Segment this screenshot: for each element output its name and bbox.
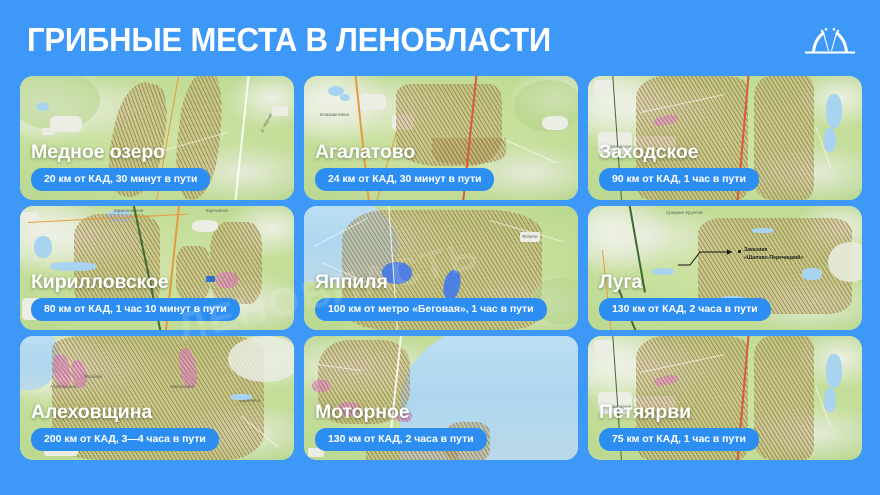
map-label: Картынное bbox=[206, 208, 229, 213]
travel-badge: 24 км от КАД, 30 минут в пути bbox=[315, 168, 494, 192]
page-title: ГРИБНЫЕ МЕСТА В ЛЕНОБЛАСТИ bbox=[27, 20, 551, 60]
place-name: Заходское bbox=[599, 141, 862, 164]
place-card-alehovshchina[interactable]: Алеховщина Явосьма Мирошкино Тервеничи А… bbox=[20, 336, 294, 460]
place-card-luga[interactable]: Средние Крупели Заказник bbox=[588, 206, 862, 330]
card-overlay: Луга 130 км от КАД, 2 часа в пути bbox=[588, 271, 862, 331]
travel-badge: 200 км от КАД, 3—4 часа в пути bbox=[31, 428, 219, 452]
place-name: Кирилловское bbox=[31, 271, 294, 294]
travel-badge: 20 км от КАД, 30 минут в пути bbox=[31, 168, 210, 192]
places-grid: р. Чёрная Медное озеро 20 км от КАД, 30 … bbox=[20, 76, 862, 460]
place-card-agalatovo[interactable]: Елизаветинка Агалатово 24 км от КАД, 30 … bbox=[304, 76, 578, 200]
card-overlay: Яппиля 100 км от метро «Беговая», 1 час … bbox=[304, 271, 578, 331]
card-overlay: Алеховщина 200 км от КАД, 3—4 часа в пут… bbox=[20, 401, 294, 461]
travel-badge: 90 км от КАД, 1 час в пути bbox=[599, 168, 759, 192]
card-overlay: Моторное 130 км от КАД, 2 часа в пути bbox=[304, 401, 578, 461]
place-card-mednoe-ozero[interactable]: р. Чёрная Медное озеро 20 км от КАД, 30 … bbox=[20, 76, 294, 200]
place-card-kirillovskoe[interactable]: Кирилловское Картынное Кирилловское 80 к… bbox=[20, 206, 294, 330]
map-label: Кирилловское bbox=[114, 208, 143, 213]
card-overlay: Кирилловское 80 км от КАД, 1 час 10 мину… bbox=[20, 271, 294, 331]
annotation-dot bbox=[738, 250, 741, 253]
map-label: Явосьма bbox=[84, 374, 102, 379]
place-name: Медное озеро bbox=[31, 141, 294, 164]
travel-badge: 130 км от КАД, 2 часа в пути bbox=[599, 298, 771, 322]
place-name: Алеховщина bbox=[31, 401, 294, 424]
place-name: Петяярви bbox=[599, 401, 862, 424]
place-card-petyayarvi[interactable]: Заходское Петяярви 75 км от КАД, 1 час в… bbox=[588, 336, 862, 460]
place-card-zahodskoe[interactable]: Заходское Заходское 90 км от КАД, 1 час … bbox=[588, 76, 862, 200]
travel-badge: 100 км от метро «Беговая», 1 час в пути bbox=[315, 298, 547, 322]
travel-badge: 80 км от КАД, 1 час 10 минут в пути bbox=[31, 298, 240, 322]
place-name: Агалатово bbox=[315, 141, 578, 164]
map-label: Елизаветинка bbox=[320, 112, 349, 117]
card-overlay: Заходское 90 км от КАД, 1 час в пути bbox=[588, 141, 862, 201]
place-name: Луга bbox=[599, 271, 862, 294]
header: ГРИБНЫЕ МЕСТА В ЛЕНОБЛАСТИ bbox=[0, 0, 880, 75]
map-label: Средние Крупели bbox=[666, 210, 703, 215]
map-label: Яппиля bbox=[522, 234, 538, 239]
card-overlay: Медное озеро 20 км от КАД, 30 минут в пу… bbox=[20, 141, 294, 201]
card-overlay: Петяярви 75 км от КАД, 1 час в пути bbox=[588, 401, 862, 461]
place-name: Яппиля bbox=[315, 271, 578, 294]
map-label: Мирошкино bbox=[170, 384, 194, 389]
annotation-line-2: «Шалово-Перечицкий» bbox=[744, 255, 803, 262]
place-card-yappilya[interactable]: Яппиля Яппиля 100 км от метро «Беговая»,… bbox=[304, 206, 578, 330]
annotation-line-1: Заказник bbox=[744, 247, 767, 254]
travel-badge: 75 км от КАД, 1 час в пути bbox=[599, 428, 759, 452]
drawbridge-logo-icon bbox=[802, 22, 858, 56]
card-overlay: Агалатово 24 км от КАД, 30 минут в пути bbox=[304, 141, 578, 201]
travel-badge: 130 км от КАД, 2 часа в пути bbox=[315, 428, 487, 452]
place-card-motornoe[interactable]: Моторное 130 км от КАД, 2 часа в пути bbox=[304, 336, 578, 460]
map-label: Алеховщина bbox=[50, 384, 76, 389]
annotation-arrow bbox=[676, 240, 744, 271]
place-name: Моторное bbox=[315, 401, 578, 424]
poster-root: ГРИБНЫЕ МЕСТА В ЛЕНОБЛАСТИ bbox=[0, 0, 880, 495]
